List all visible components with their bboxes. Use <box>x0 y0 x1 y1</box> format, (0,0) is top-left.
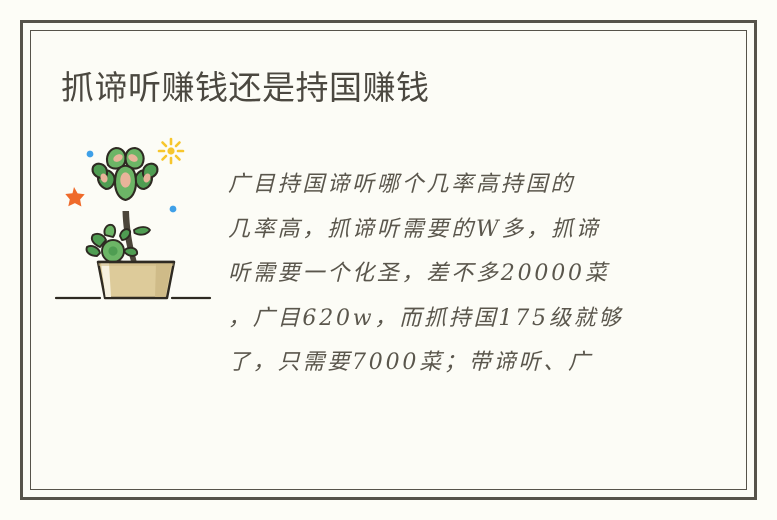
yellow-starburst-icon <box>159 139 183 163</box>
article-body-line: 听需要一个化圣，差不多20000菜 <box>228 252 664 297</box>
stem-side-leaf <box>134 227 150 235</box>
article-body-line: ，广目620w，而抓持国175级就够 <box>228 297 664 342</box>
article-body-line: 广目持国谛听哪个几率高持国的 <box>228 163 664 208</box>
lower-rosette-center <box>108 246 117 255</box>
blue-dot-upper-left-icon <box>87 151 94 158</box>
article-card: 抓谛听赚钱还是持国赚钱 <box>0 0 777 520</box>
article-body-line: 了，只需要7000菜；带谛听、广 <box>228 341 664 386</box>
flower-pot <box>98 262 174 298</box>
potted-plant-illustration <box>52 132 222 307</box>
article-body-line: 几率高，抓谛听需要的W多，抓谛 <box>228 208 664 253</box>
blue-dot-right-icon <box>170 206 177 213</box>
orange-star-icon <box>65 187 84 207</box>
article-body: 广目持国谛听哪个几率高持国的 几率高，抓谛听需要的W多，抓谛 听需要一个化圣，差… <box>228 163 664 386</box>
page-title: 抓谛听赚钱还是持国赚钱 <box>61 68 430 108</box>
